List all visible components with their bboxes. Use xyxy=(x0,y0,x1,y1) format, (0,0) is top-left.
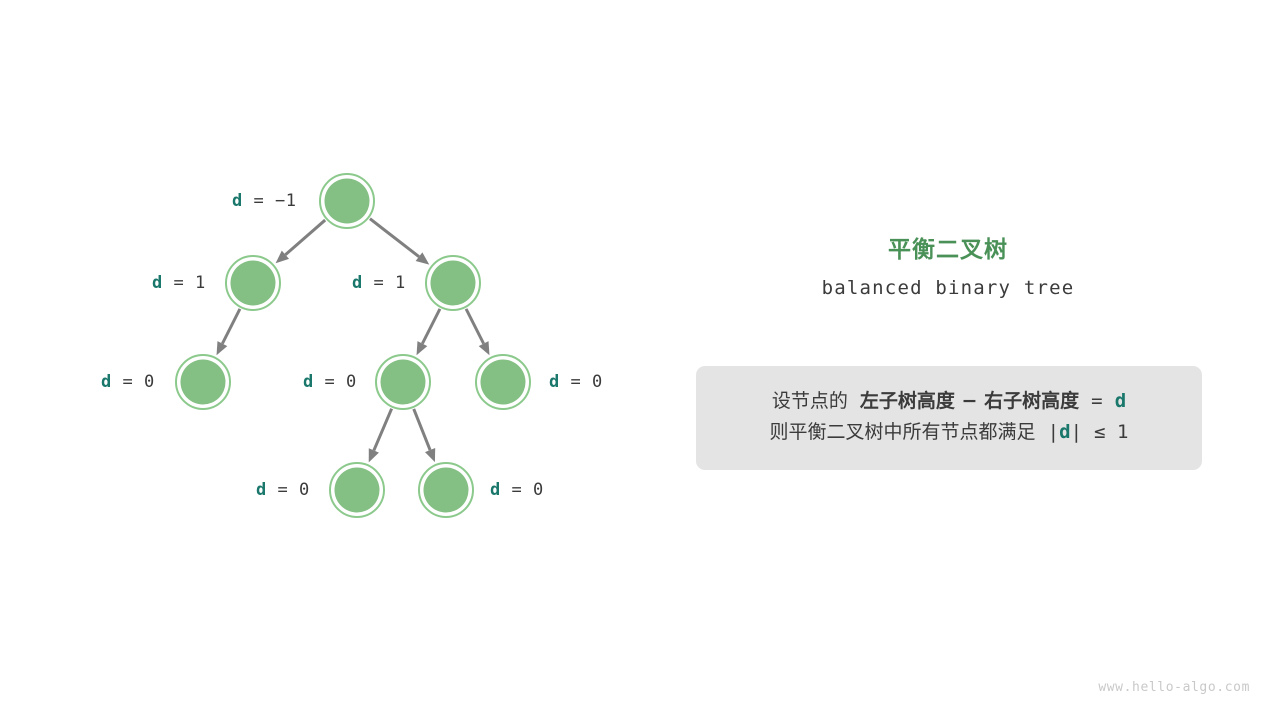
tree-graphics xyxy=(0,0,660,720)
node-balance-label: d = 0 xyxy=(549,374,603,391)
balance-variable-d: d xyxy=(352,273,363,293)
abs-bar-close: | xyxy=(1071,421,1082,443)
node-balance-label: d = 0 xyxy=(490,482,544,499)
tree-diagram: d = −1d = 1d = 1d = 0d = 0d = 0d = 0d = … xyxy=(0,0,660,720)
page-subtitle: balanced binary tree xyxy=(660,277,1236,299)
node-balance-label: d = 0 xyxy=(101,374,155,391)
formula-equals: = xyxy=(1091,390,1102,412)
tree-node xyxy=(476,355,530,409)
tree-edge xyxy=(374,409,392,451)
tree-edge xyxy=(370,219,419,257)
balance-value: = −1 xyxy=(243,191,297,211)
tree-node xyxy=(426,256,480,310)
node-balance-label: d = 0 xyxy=(256,482,310,499)
node-fill xyxy=(431,261,476,306)
balance-value: = 0 xyxy=(267,480,310,500)
balance-variable-d: d xyxy=(490,480,501,500)
formula-variable-d-abs: d xyxy=(1059,421,1070,443)
formula-variable-d: d xyxy=(1115,390,1126,412)
node-fill xyxy=(381,360,426,405)
tree-edges xyxy=(217,219,490,463)
balance-value: = 0 xyxy=(314,372,357,392)
tree-nodes xyxy=(176,174,530,517)
node-balance-label: d = 1 xyxy=(152,275,206,292)
node-fill xyxy=(181,360,226,405)
formula-prefix-2: 则平衡二叉树中所有节点都满足 xyxy=(770,421,1036,443)
tree-node xyxy=(376,355,430,409)
abs-bar-open: | xyxy=(1048,421,1059,443)
tree-edge xyxy=(285,220,325,255)
balance-variable-d: d xyxy=(549,372,560,392)
node-fill xyxy=(424,468,469,513)
node-fill xyxy=(481,360,526,405)
balance-variable-d: d xyxy=(152,273,163,293)
tree-edge xyxy=(222,309,240,344)
tree-edge xyxy=(466,309,484,344)
balance-value: = 0 xyxy=(112,372,155,392)
balance-variable-d: d xyxy=(232,191,243,211)
page-title: 平衡二叉树 xyxy=(660,230,1236,264)
balance-value: = 1 xyxy=(163,273,206,293)
balance-variable-d: d xyxy=(303,372,314,392)
balance-value: = 0 xyxy=(560,372,603,392)
tree-node xyxy=(320,174,374,228)
watermark: www.hello-algo.com xyxy=(1098,680,1250,695)
node-balance-label: d = 0 xyxy=(303,374,357,391)
info-panel: 平衡二叉树 balanced binary tree 设节点的 左子树高度 − … xyxy=(660,0,1280,720)
node-balance-label: d = −1 xyxy=(232,193,296,210)
tree-node xyxy=(330,463,384,517)
node-fill xyxy=(335,468,380,513)
formula-line-1: 设节点的 左子树高度 − 右子树高度 = d xyxy=(696,386,1202,417)
node-fill xyxy=(325,179,370,224)
node-fill xyxy=(231,261,276,306)
node-balance-label: d = 1 xyxy=(352,275,406,292)
tree-edge xyxy=(414,409,430,450)
formula-box: 设节点的 左子树高度 − 右子树高度 = d 则平衡二叉树中所有节点都满足 |d… xyxy=(696,366,1202,470)
tree-node xyxy=(226,256,280,310)
formula-prefix-1: 设节点的 xyxy=(772,390,848,412)
formula-bold-term: 左子树高度 − 右子树高度 xyxy=(860,390,1079,412)
balance-value: = 1 xyxy=(363,273,406,293)
tree-edge xyxy=(422,309,440,344)
formula-line-2: 则平衡二叉树中所有节点都满足 |d| ≤ 1 xyxy=(696,417,1202,448)
balance-variable-d: d xyxy=(256,480,267,500)
tree-node xyxy=(419,463,473,517)
edge-arrowhead xyxy=(425,448,435,462)
balance-value: = 0 xyxy=(501,480,544,500)
balance-variable-d: d xyxy=(101,372,112,392)
formula-relation: ≤ 1 xyxy=(1094,421,1128,443)
tree-node xyxy=(176,355,230,409)
